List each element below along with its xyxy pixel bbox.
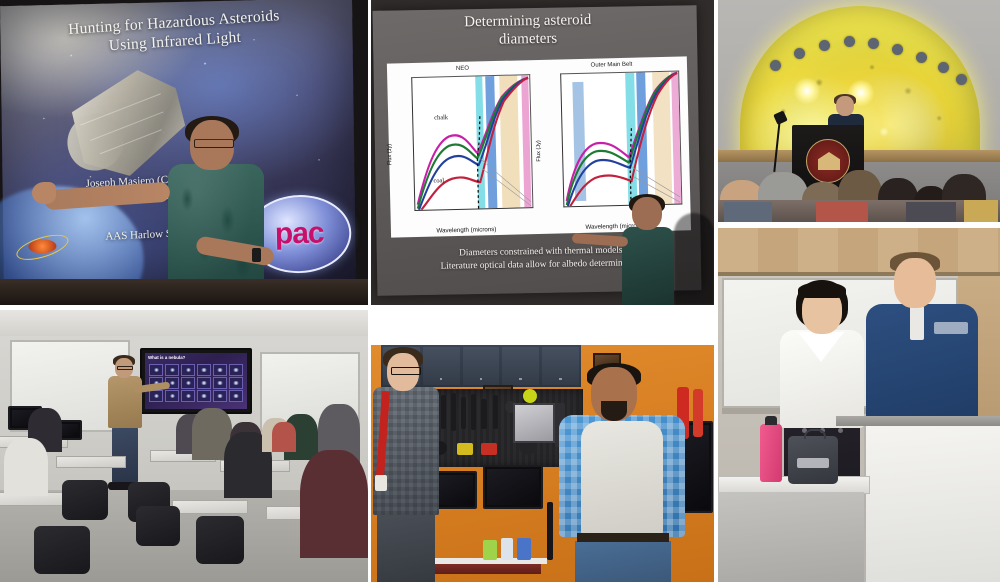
- student: [300, 450, 368, 558]
- plot-neo-ytick: 10⁻²: [411, 99, 412, 105]
- counter-cabinet: [718, 492, 864, 582]
- computer-monitor: [483, 465, 543, 509]
- desk: [56, 456, 126, 468]
- panel-two-presenters: [718, 228, 1000, 582]
- lectern-surface: [836, 416, 1000, 426]
- student: [272, 422, 296, 452]
- panel-makerspace: [371, 345, 714, 582]
- thumbnail: [213, 390, 227, 402]
- thumbnail: [197, 390, 211, 402]
- photo-collage: Hunting for Hazardous Asteroids Using In…: [0, 0, 1000, 582]
- backpack: [196, 516, 244, 564]
- case-logo: [797, 458, 829, 468]
- thumbnail: [149, 390, 163, 402]
- plot-neo-xlabel: Wavelength (microns): [393, 225, 540, 236]
- thumbnail: [181, 390, 195, 402]
- wall-display: What is a nebula?: [140, 348, 252, 414]
- polo-placket: [910, 306, 924, 340]
- wristwatch: [252, 248, 261, 262]
- plot-neo: NEO: [389, 64, 540, 236]
- glasses-icon: [391, 367, 421, 375]
- person-right-figure: [559, 367, 687, 582]
- monitor-arm: [547, 502, 553, 560]
- thumbnail: [181, 364, 195, 376]
- water-bottle: [760, 424, 782, 482]
- beard: [601, 401, 627, 421]
- plot-neo-title: NEO: [389, 64, 536, 74]
- presenter-figure: [616, 197, 682, 305]
- solar-flare: [794, 78, 820, 104]
- thumbnail: [149, 364, 163, 376]
- annotation-coal: coal: [433, 178, 444, 185]
- thumbnail: [181, 377, 195, 389]
- thumbnail: [213, 377, 227, 389]
- plot-neo-axes: 10⁻² 10⁻³ 10⁻⁴ 10⁻⁵ 10⁰ 10¹ chalk coal: [411, 74, 533, 211]
- wall-sign: [513, 403, 555, 443]
- jar: [483, 540, 497, 560]
- glasses-icon: [194, 139, 234, 148]
- presenter-figure: [156, 120, 296, 305]
- slide-title: What is a nebula?: [148, 355, 185, 360]
- ceiling: [0, 310, 368, 336]
- plot-omb-axes: 10⁻² 10⁻³ 10⁻⁴ 10⁻⁵ 10⁰: [560, 71, 682, 208]
- backpack: [136, 506, 180, 546]
- id-badge: [375, 475, 387, 491]
- plot-omb-ytick: 10⁻⁴: [560, 164, 562, 170]
- panel-classroom: What is a nebula?: [0, 310, 368, 582]
- panel-solar-lecture: [718, 0, 1000, 222]
- slide-title: Determining asteroid diameters: [403, 10, 654, 50]
- backpack: [34, 526, 90, 574]
- thumbnail: [165, 364, 179, 376]
- plot-omb-ytick: 10⁻³: [560, 132, 562, 138]
- plot-omb-ylabel: Flux (Jy): [536, 140, 543, 162]
- neowise-logo-icon: [15, 227, 70, 266]
- bottle: [501, 538, 513, 560]
- can: [517, 538, 531, 560]
- plot-neo-xtick: 10¹: [498, 209, 505, 211]
- plot-neo-ylabel: Flux (Jy): [387, 144, 394, 166]
- panel-asteroid-diameters: Determining asteroid diameters NEO: [371, 0, 714, 305]
- belt: [577, 533, 669, 542]
- plot-omb-xtick: 10⁰: [598, 206, 605, 207]
- desk: [172, 500, 248, 514]
- thumbnail: [197, 377, 211, 389]
- plot-neo-ytick: 10⁻⁵: [411, 194, 414, 200]
- equipment-case: [788, 436, 838, 484]
- glasses-icon: [117, 366, 133, 370]
- thumbnail: [213, 364, 227, 376]
- panel-lecture-asteroids: Hunting for Hazardous Asteroids Using In…: [0, 0, 368, 305]
- thumbnail: [197, 364, 211, 376]
- thumbnail: [165, 390, 179, 402]
- instructor-figure: [104, 358, 146, 490]
- plot-omb-ytick: 10⁻²: [560, 98, 561, 104]
- thumbnail: [229, 377, 243, 389]
- audience: [718, 156, 1000, 222]
- stage-front: [0, 279, 368, 305]
- robotics-equipment: [693, 389, 703, 437]
- annotation-chalk: chalk: [434, 114, 448, 121]
- person-left-figure: [373, 351, 443, 582]
- plot-omb-ytick: 10⁻⁵: [560, 193, 563, 199]
- thumbnail: [229, 364, 243, 376]
- plot-neo-xtick: 10⁰: [447, 210, 454, 211]
- plot-neo-ytick: 10⁻³: [411, 133, 413, 139]
- backpack: [62, 480, 108, 520]
- plot-neo-ytick: 10⁻⁴: [411, 165, 413, 171]
- student: [4, 438, 48, 496]
- embroidered-logo: [934, 322, 968, 334]
- thumbnail: [229, 390, 243, 402]
- lectern: [864, 424, 1000, 582]
- displayed-slide: What is a nebula?: [145, 353, 247, 409]
- plot-omb-title: Outer Main Belt: [538, 60, 685, 70]
